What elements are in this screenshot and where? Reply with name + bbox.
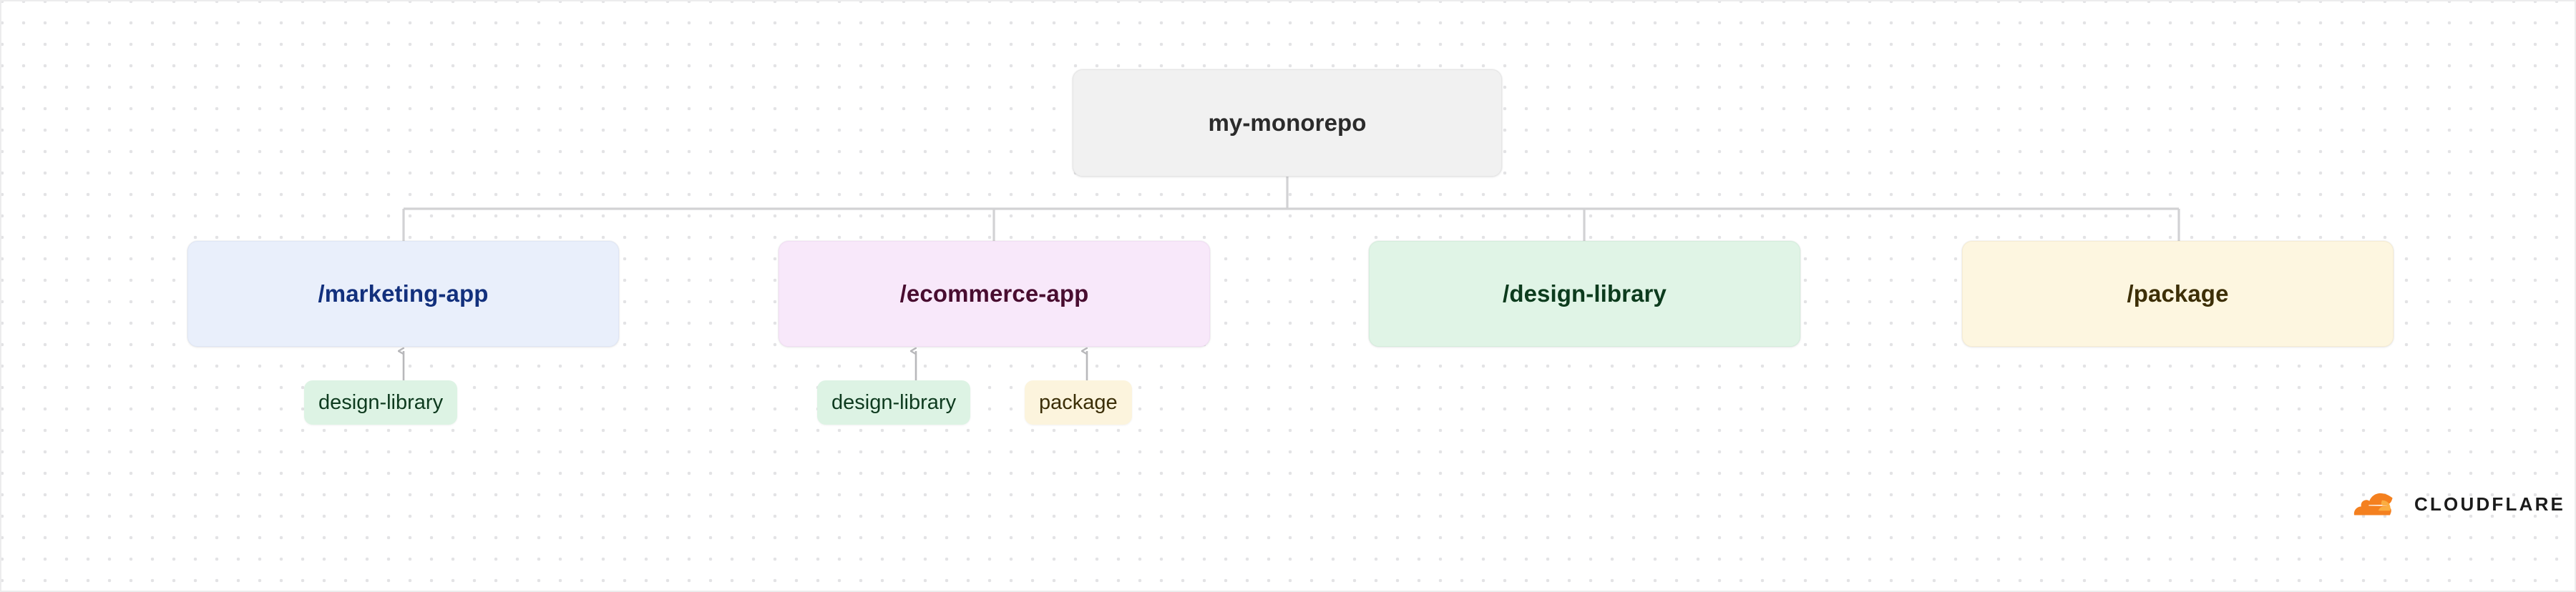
node-label: /ecommerce-app <box>900 280 1089 307</box>
cloudflare-logo: CLOUDFLARE <box>2351 492 2565 516</box>
cloudflare-cloud-icon <box>2351 492 2404 516</box>
dependency-edges <box>404 351 1087 380</box>
tree-edges <box>404 177 2179 241</box>
dependency-pill-ecommerce-app-package[interactable]: package <box>1025 380 1132 425</box>
dependency-pill-label: design-library <box>318 391 443 415</box>
dependency-pill-marketing-app-design-library[interactable]: design-library <box>304 380 457 425</box>
node-label: /design-library <box>1503 280 1667 307</box>
node-package[interactable]: /package <box>1962 241 2394 347</box>
diagram-canvas: my-monorepo /marketing-app /ecommerce-ap… <box>0 0 2576 592</box>
cloudflare-wordmark: CLOUDFLARE <box>2414 493 2565 515</box>
node-marketing-app[interactable]: /marketing-app <box>187 241 619 347</box>
node-ecommerce-app[interactable]: /ecommerce-app <box>779 241 1210 347</box>
node-my-monorepo[interactable]: my-monorepo <box>1073 69 1502 177</box>
node-label: /package <box>2127 280 2228 307</box>
dependency-pill-label: package <box>1039 391 1118 415</box>
node-label: my-monorepo <box>1208 109 1366 137</box>
node-design-library[interactable]: /design-library <box>1369 241 1800 347</box>
node-label: /marketing-app <box>318 280 489 307</box>
dependency-pill-label: design-library <box>831 391 956 415</box>
dependency-pill-ecommerce-app-design-library[interactable]: design-library <box>817 380 970 425</box>
